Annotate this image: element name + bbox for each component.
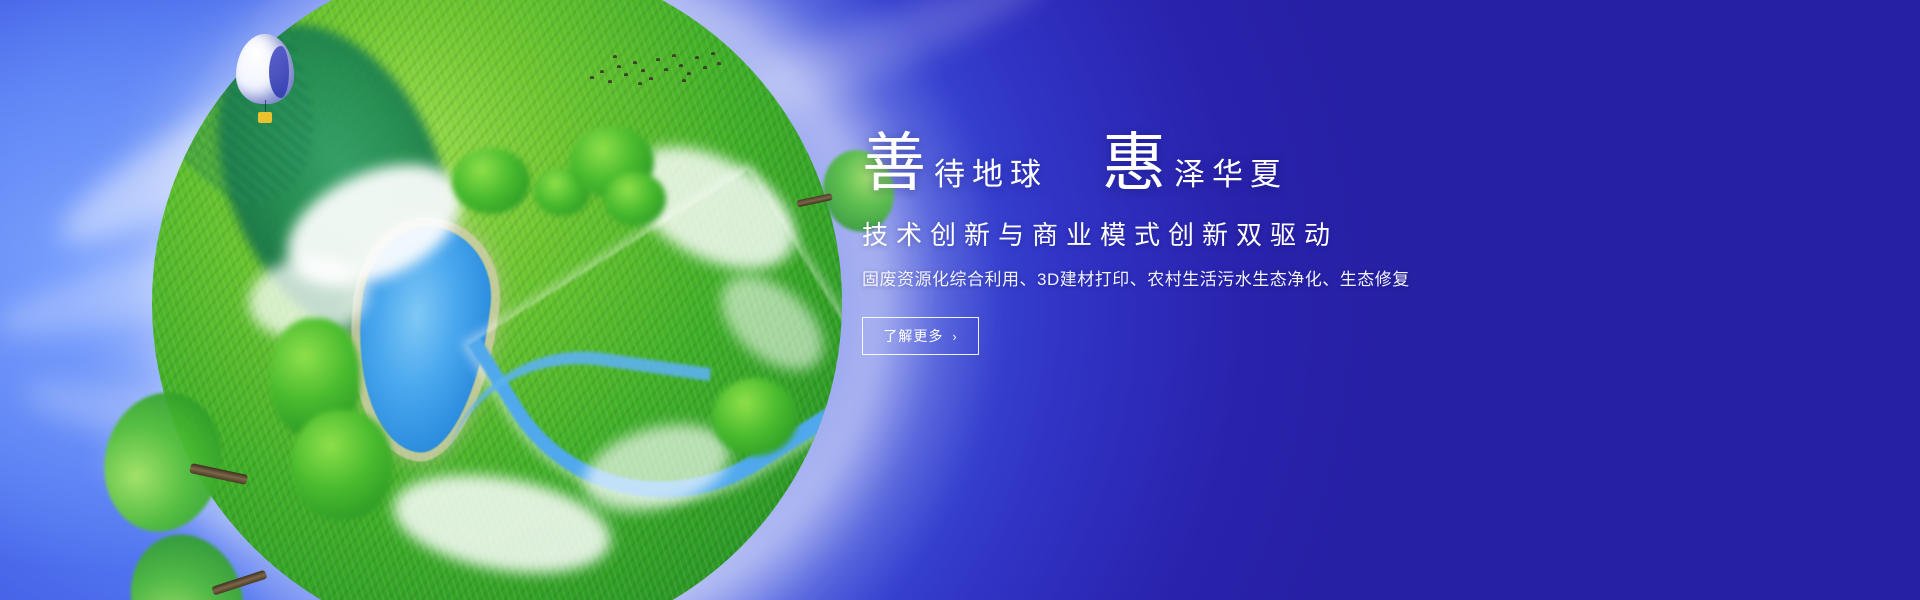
- headline-rest-2: 泽华夏: [1174, 159, 1288, 190]
- tree-clump: [452, 148, 530, 214]
- hero-copy-block: 善 待地球 惠 泽华夏 技术创新与商业模式创新双驱动 固废资源化综合利用、3D建…: [862, 132, 1562, 355]
- tree-clump: [604, 172, 666, 226]
- headline-char-1: 善: [862, 132, 926, 196]
- page-subtitle: 技术创新与商业模式创新双驱动: [862, 220, 1562, 251]
- learn-more-button[interactable]: 了解更多 ›: [862, 317, 979, 355]
- tree-clump: [712, 378, 798, 456]
- tree-clump: [292, 410, 392, 520]
- page-description: 固废资源化综合利用、3D建材打印、农村生活污水生态净化、生态修复: [862, 269, 1562, 291]
- page-title: 善 待地球 惠 泽华夏: [862, 132, 1562, 196]
- hot-air-balloon-icon: [236, 34, 294, 130]
- headline-char-2: 惠: [1102, 132, 1166, 196]
- headline-rest-1: 待地球: [934, 159, 1048, 190]
- chevron-right-icon: ›: [952, 329, 957, 344]
- birds-flock-icon: [586, 46, 726, 98]
- hero-banner: 善 待地球 惠 泽华夏 技术创新与商业模式创新双驱动 固废资源化综合利用、3D建…: [0, 0, 1920, 600]
- learn-more-label: 了解更多: [883, 326, 943, 346]
